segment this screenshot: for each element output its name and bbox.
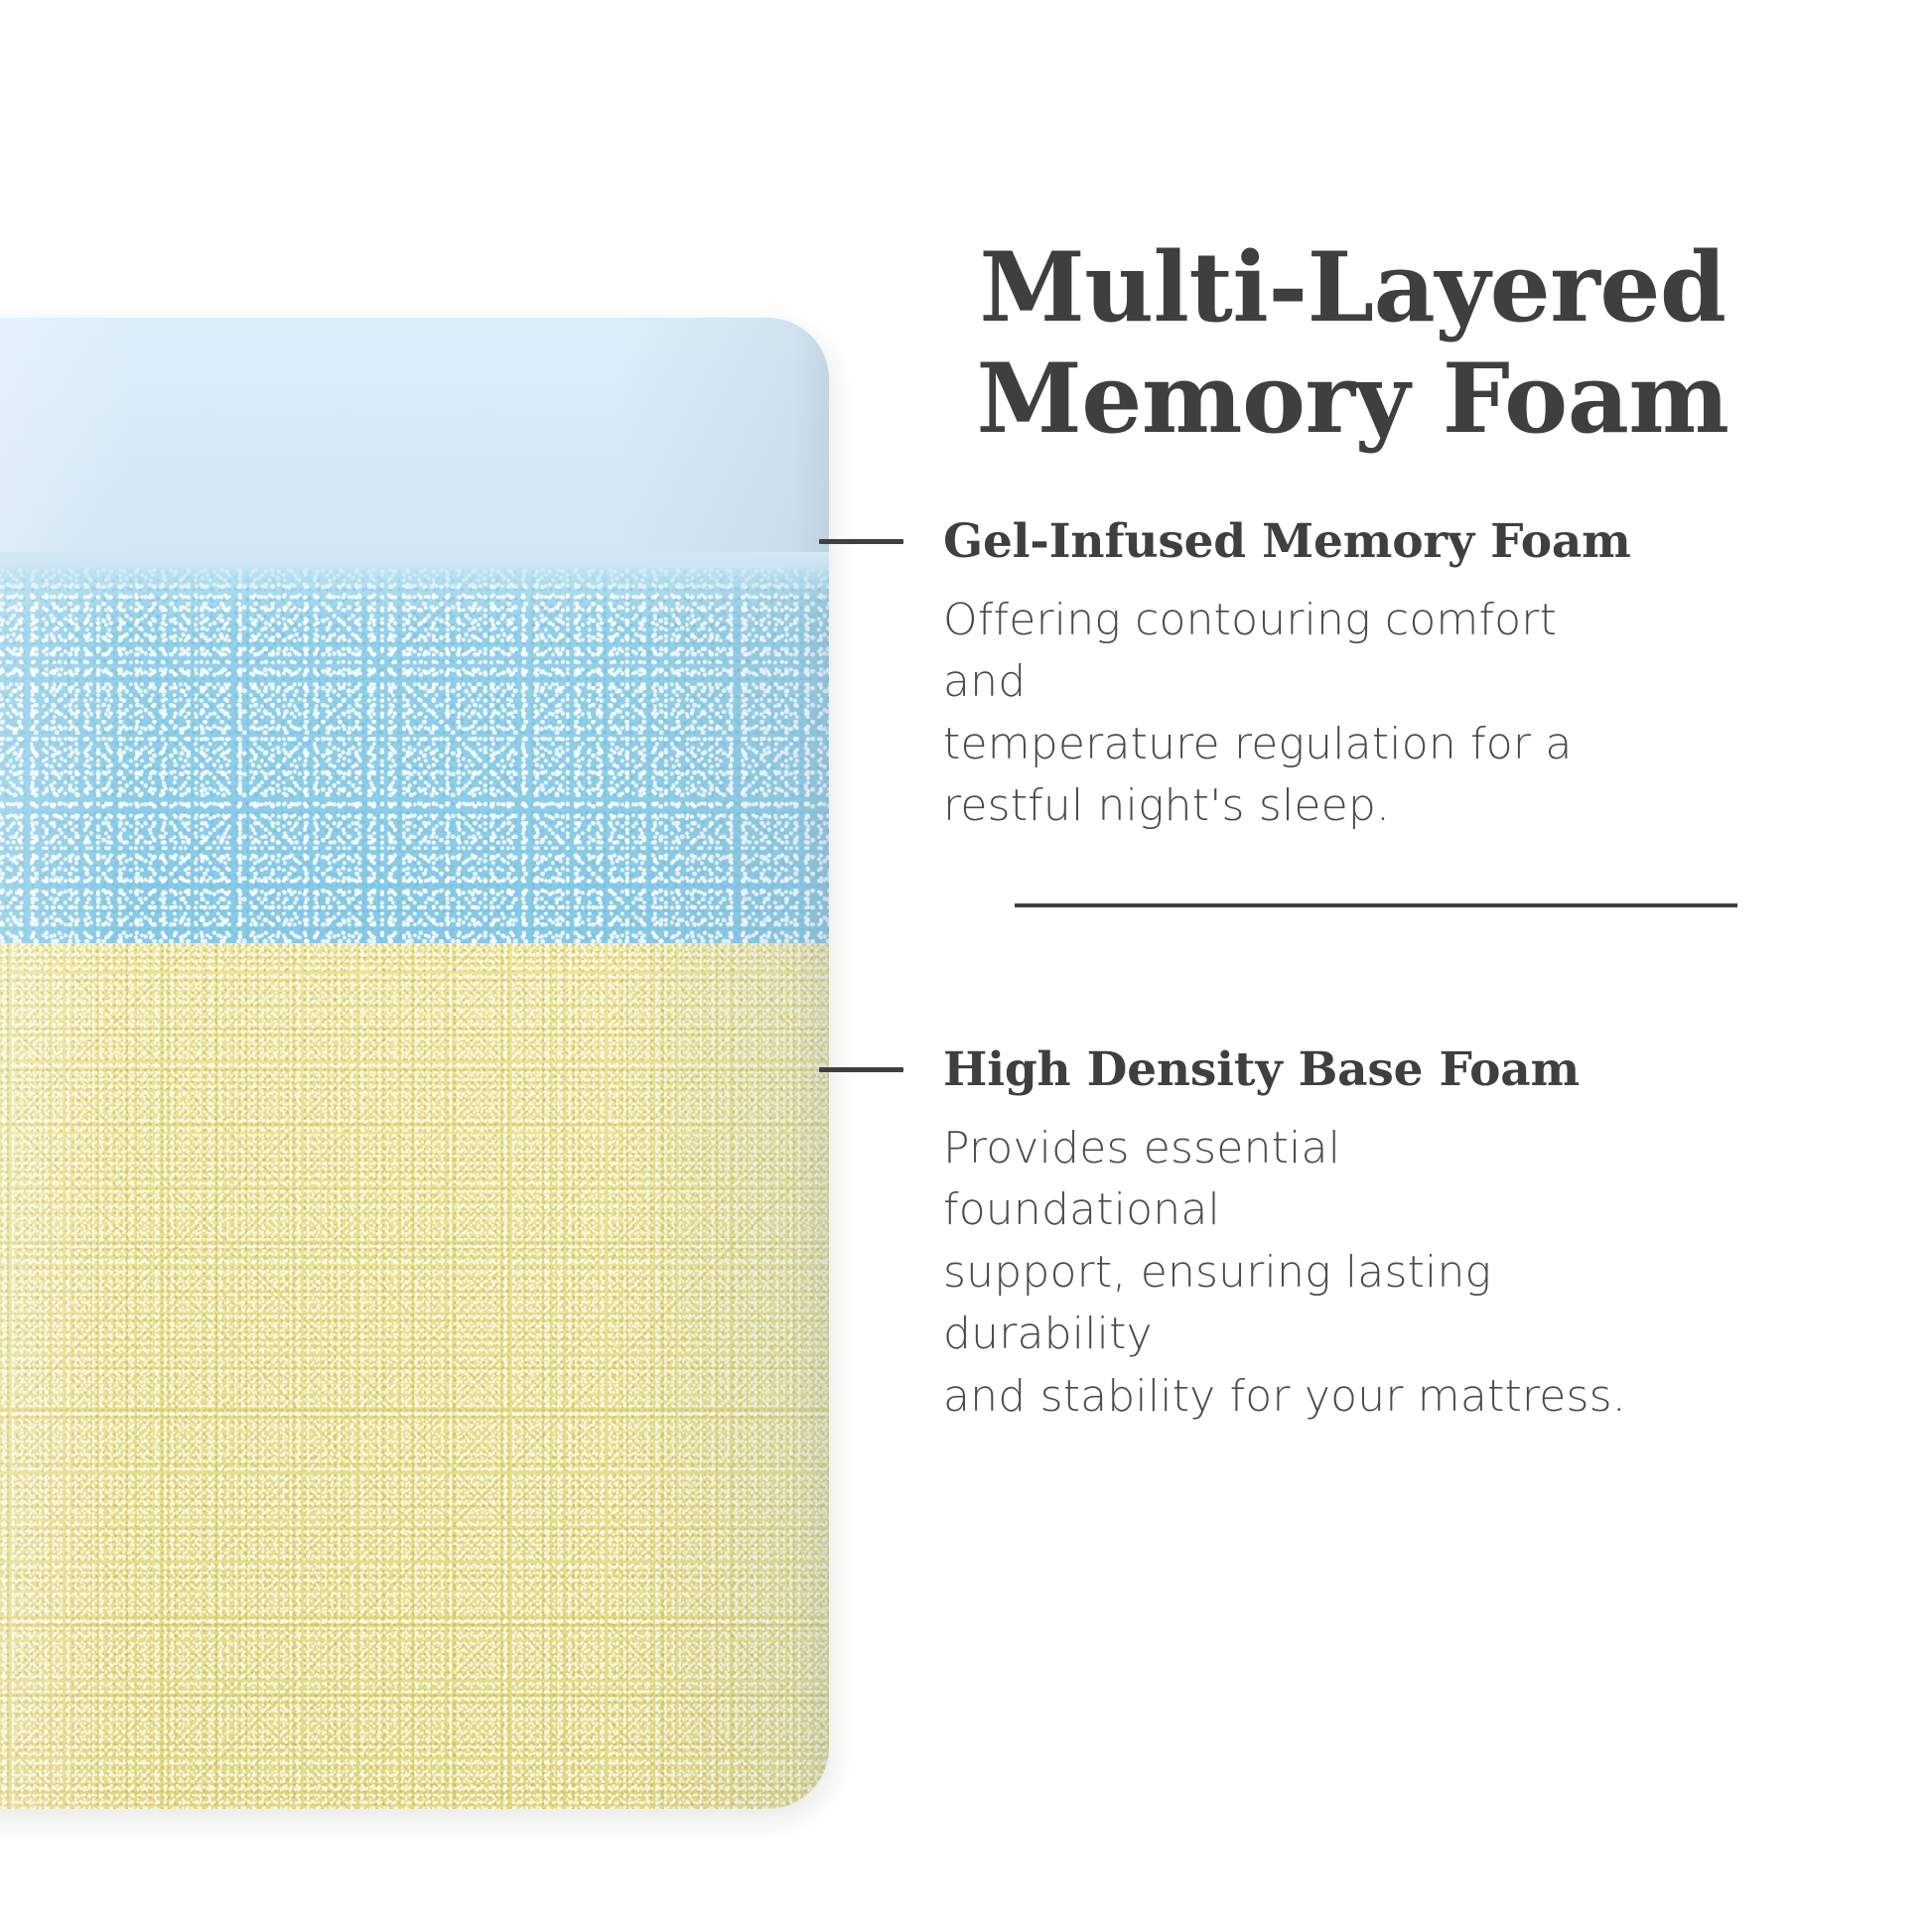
body-line: Offering contouring comfort and xyxy=(943,590,1628,714)
section-divider xyxy=(1015,903,1737,907)
callout-high-density-base-header: High Density Base Foam xyxy=(819,1044,1932,1096)
body-line: restful night's sleep. xyxy=(943,775,1628,837)
callout-high-density-base-heading: High Density Base Foam xyxy=(943,1044,1580,1096)
callout-gel-infused-body: Offering contouring comfort and temperat… xyxy=(943,590,1628,838)
foam-high-density-base-layer xyxy=(0,943,829,1809)
callout-gel-infused: Gel-Infused Memory Foam Offering contour… xyxy=(819,516,1932,838)
leader-line-icon xyxy=(819,539,903,544)
leader-line-icon xyxy=(819,1067,903,1072)
memory-foam-block-image xyxy=(0,318,829,1809)
body-line: and stability for your mattress. xyxy=(943,1366,1628,1428)
callout-high-density-base-body: Provides essential foundational support,… xyxy=(943,1118,1628,1428)
content-column: Multi-Layered Memory Foam Gel-Infused Me… xyxy=(819,0,1932,1932)
body-line: support, ensuring lasting durability xyxy=(943,1242,1628,1366)
page-title-line-1: Multi-Layered xyxy=(819,232,1886,343)
callout-gel-infused-header: Gel-Infused Memory Foam xyxy=(819,516,1932,568)
page-title-line-2: Memory Foam xyxy=(819,344,1886,454)
body-line: temperature regulation for a xyxy=(943,714,1628,775)
body-line: Provides essential foundational xyxy=(943,1118,1628,1242)
foam-top-surface xyxy=(0,318,829,568)
callout-high-density-base: High Density Base Foam Provides essentia… xyxy=(819,1044,1932,1428)
page-title: Multi-Layered Memory Foam xyxy=(819,232,1886,454)
callout-gel-infused-heading: Gel-Infused Memory Foam xyxy=(943,516,1631,568)
foam-gel-infused-layer xyxy=(0,568,829,943)
